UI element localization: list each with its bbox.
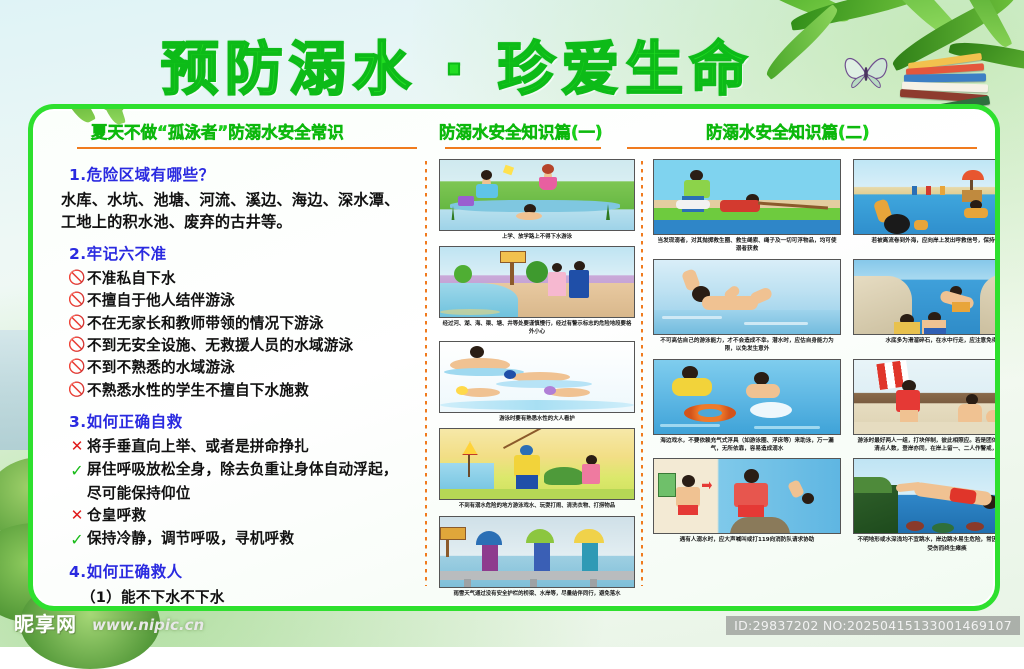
column-headings: 夏天不做“孤泳者”防溺水安全常识 防溺水安全知识篇(一) 防溺水安全知识篇(二) xyxy=(33,119,995,161)
cross-icon: ✕ xyxy=(67,436,87,458)
rule-text: 不熟悉水性的学生不擅自下水施救 xyxy=(87,380,309,401)
cross-icon: ✕ xyxy=(67,505,87,527)
comic-caption: 不可高估自己的游泳能力，才不会造成不幸。潜水时，应估自身能力为限，以免发生意外 xyxy=(653,335,841,354)
comic-caption: 雨雪天气通过没有安全护栏的桥梁、水岸等，尽量结伴同行，避免落水 xyxy=(439,588,635,598)
comic-art-riverbank-kids xyxy=(439,159,635,231)
right-comic-grid: 当发现溺者，对其抛掷救生圈、救生绳索、绳子及一切可浮物品，均可使溺者获救 xyxy=(653,159,1000,558)
selfrescue-item: ✓保持冷静，调节呼吸，寻机呼救 xyxy=(67,528,417,551)
poster-canvas: 预防溺水 · 珍爱生命 夏天不做“孤泳者”防溺水安全常识 防溺水安全知识篇(一)… xyxy=(0,0,1024,647)
comic-art-rainy-bridge xyxy=(439,516,635,588)
rule-item: 🚫不到不熟悉的水域游泳 xyxy=(67,357,417,378)
check-icon: ✓ xyxy=(67,459,87,482)
prohibition-icon: 🚫 xyxy=(67,268,87,288)
watermark-url: www.nipic.cn xyxy=(92,616,204,634)
comic-caption: 经过河、湖、海、渠、塘、井等处要谨慎慢行，经过有警示标志的危险地段要格外小心 xyxy=(439,318,635,336)
selfrescue-item: 尽可能保持仰位 xyxy=(67,483,417,504)
selfrescue-text: 仓皇呼救 xyxy=(87,505,146,526)
rescue-step: （2）用工具，不上手拉 xyxy=(81,609,417,611)
comic-caption: 不明地形或水深浅均不宜跳水，岸边跳水易生危险，常因水浅，造成脊椎受伤而终生瘫痪 xyxy=(853,534,1000,553)
selfrescue-text: 保持冷静，调节呼吸，寻机呼救 xyxy=(87,528,294,549)
divider-right xyxy=(641,161,643,586)
comic-cell: 当发现溺者，对其抛掷救生圈、救生绳索、绳子及一切可浮物品，均可使溺者获救 xyxy=(653,159,841,254)
comic-art-lifeguard-buddy xyxy=(853,359,1000,435)
comic-art-no-diving-shallow xyxy=(853,458,1000,534)
selfrescue-text: 尽可能保持仰位 xyxy=(87,483,191,504)
comic-caption: 遇有人溺水时，应大声喊叫或打119向消防队请求协助 xyxy=(653,534,841,544)
rule-mid xyxy=(445,147,601,149)
rule-item: 🚫不到无安全设施、无救援人员的水域游泳 xyxy=(67,335,417,356)
poster-title: 预防溺水 · 珍爱生命 xyxy=(0,22,1024,106)
section-1-line-1: 水库、水坑、池塘、河流、溪边、海边、深水潭、 xyxy=(61,189,417,211)
comic-art-inflatable-float-risk xyxy=(653,359,841,435)
comic-cell: 遇有人溺水时，应大声喊叫或打119向消防队请求协助 xyxy=(653,458,841,553)
rule-text: 不到不熟悉的水域游泳 xyxy=(87,357,235,378)
comic-cell: 不可高估自己的游泳能力，才不会造成不幸。潜水时，应估自身能力为限，以免发生意外 xyxy=(653,259,841,354)
prohibition-icon: 🚫 xyxy=(67,335,87,355)
watermark-logo: 昵享网 xyxy=(14,608,77,637)
comic-caption: 游泳时最好两人一组，打块伴制，彼此相照应。若是团体活动，入水前先清点人数，登岸亦… xyxy=(853,435,1000,454)
section-1-title: 1.危险区域有哪些？ xyxy=(69,163,417,185)
heading-left: 夏天不做“孤泳者”防溺水安全常识 xyxy=(91,119,344,143)
comic-cell: 雨雪天气通过没有安全护栏的桥梁、水岸等，尽量结伴同行，避免落水 xyxy=(439,516,635,598)
selfrescue-text: 将手垂直向上举、或者是拼命挣扎 xyxy=(87,436,309,457)
section-4-title: 4.如何正确救人 xyxy=(69,560,417,582)
rule-item: 🚫不熟悉水性的学生不擅自下水施救 xyxy=(67,380,417,401)
comic-caption: 海边戏水，不要依赖充气式浮具（如游泳圈、浮床等）来助泳，万一漏气，无所依靠，容易… xyxy=(653,435,841,454)
watermark-id: ID:29837202 NO:20250415133001469107 xyxy=(726,616,1020,635)
comic-caption: 不到有溺水危险的地方游泳戏水、玩耍打闹、清洗衣物、打捞物品 xyxy=(439,500,635,510)
comic-caption: 水底多为滑溜碎石，在水中行走，应注意免得滑倒 xyxy=(853,335,1000,345)
comic-cell: 若被离流卷到外海，应向岸上发出呼救信号，保持体力及体温 xyxy=(853,159,1000,254)
comic-cell: 不明地形或水深浅均不宜跳水，岸边跳水易生危险，常因水浅，造成脊椎受伤而终生瘫痪 xyxy=(853,458,1000,553)
rule-item: 🚫不准私自下水 xyxy=(67,268,417,289)
selfrescue-item: ✓屏住呼吸放松全身，除去负重让身体自动浮起， xyxy=(67,459,417,482)
section-2-title: 2.牢记六不准 xyxy=(69,242,417,264)
comic-art-warning-sign-path xyxy=(439,246,635,318)
comic-art-fishing-danger xyxy=(439,428,635,500)
selfrescue-item: ✕将手垂直向上举、或者是拼命挣扎 xyxy=(67,436,417,458)
comic-art-throw-rescue-ring xyxy=(653,159,841,235)
left-text-column: 1.危险区域有哪些？ 水库、水坑、池塘、河流、溪边、海边、深水潭、 工地上的积水… xyxy=(57,161,417,611)
rescue-step: （1）能不下水不下水 xyxy=(81,586,417,607)
selfrescue-text: 屏住呼吸放松全身，除去负重让身体自动浮起， xyxy=(87,459,398,480)
comic-caption: 游泳时要有熟悉水性的大人看护 xyxy=(439,413,635,423)
section-3-title: 3.如何正确自救 xyxy=(69,410,417,432)
prohibition-icon: 🚫 xyxy=(67,313,87,333)
comic-art-call-119 xyxy=(653,458,841,534)
comic-art-overestimate-ability xyxy=(653,259,841,335)
rule-text: 不到无安全设施、无救援人员的水域游泳 xyxy=(87,335,353,356)
selfrescue-item: ✕仓皇呼救 xyxy=(67,505,417,527)
comic-cell: 游泳时要有熟悉水性的大人看护 xyxy=(439,341,635,423)
mid-comic-column: 上学、放学路上不得下水游泳 经过河、湖、海、渠、塘、井 xyxy=(439,159,635,603)
prohibition-icon: 🚫 xyxy=(67,380,87,400)
comic-cell: 游泳时最好两人一组，打块伴制，彼此相照应。若是团体活动，入水前先清点人数，登岸亦… xyxy=(853,359,1000,454)
comic-cell: 不到有溺水危险的地方游泳戏水、玩耍打闹、清洗衣物、打捞物品 xyxy=(439,428,635,510)
rule-left xyxy=(77,147,417,149)
comic-art-rip-current-signal xyxy=(853,159,1000,235)
rule-item: 🚫不擅自于他人结伴游泳 xyxy=(67,290,417,311)
rule-item: 🚫不在无家长和教师带领的情况下游泳 xyxy=(67,313,417,334)
heading-mid: 防溺水安全知识篇(一) xyxy=(439,119,603,143)
comic-cell: 水底多为滑溜碎石，在水中行走，应注意免得滑倒 xyxy=(853,259,1000,354)
content-panel: 夏天不做“孤泳者”防溺水安全常识 防溺水安全知识篇(一) 防溺水安全知识篇(二)… xyxy=(28,104,1000,611)
comic-cell: 上学、放学路上不得下水游泳 xyxy=(439,159,635,241)
rule-right xyxy=(627,147,977,149)
heading-right: 防溺水安全知识篇(二) xyxy=(706,119,870,143)
comic-cell: 经过河、湖、海、渠、塘、井等处要谨慎慢行，经过有警示标志的危险地段要格外小心 xyxy=(439,246,635,336)
comic-art-adult-supervise-swim xyxy=(439,341,635,413)
right-comic-column: 当发现溺者，对其抛掷救生圈、救生绳索、绳子及一切可浮物品，均可使溺者获救 xyxy=(653,159,1000,558)
rule-text: 不擅自于他人结伴游泳 xyxy=(87,290,235,311)
comic-caption: 当发现溺者，对其抛掷救生圈、救生绳索、绳子及一切可浮物品，均可使溺者获救 xyxy=(653,235,841,254)
prohibition-icon: 🚫 xyxy=(67,357,87,377)
check-icon: ✓ xyxy=(67,528,87,551)
comic-caption: 上学、放学路上不得下水游泳 xyxy=(439,231,635,241)
section-1-line-2: 工地上的积水池、废弃的古井等。 xyxy=(61,211,417,233)
prohibition-icon: 🚫 xyxy=(67,290,87,310)
rule-text: 不准私自下水 xyxy=(87,268,176,289)
comic-art-slippery-rocks xyxy=(853,259,1000,335)
divider-left xyxy=(425,161,427,586)
comic-caption: 若被离流卷到外海，应向岸上发出呼救信号，保持体力及体温 xyxy=(853,235,1000,245)
comic-cell: 海边戏水，不要依赖充气式浮具（如游泳圈、浮床等）来助泳，万一漏气，无所依靠，容易… xyxy=(653,359,841,454)
rule-text: 不在无家长和教师带领的情况下游泳 xyxy=(87,313,324,334)
